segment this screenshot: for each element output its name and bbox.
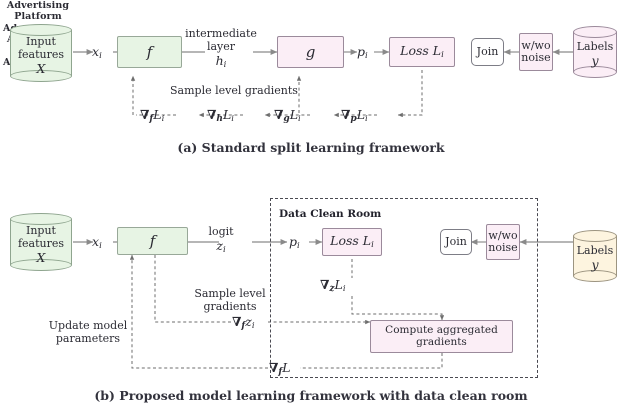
panel-b-grad-z-L-label: ∇zLi — [320, 278, 346, 295]
panel-b-data-clean-room-title: Data Clean Room — [279, 208, 381, 220]
box-loss-label: Loss Li — [400, 44, 444, 60]
db-label-line2: features — [18, 238, 64, 251]
panel-a-labels-db: Labels y — [573, 26, 617, 78]
panel-a-caption: (a) Standard split learning framework — [0, 140, 622, 155]
panel-b-box-f[interactable]: f — [117, 227, 188, 255]
panel-a-input-features-db: Input features X — [10, 24, 72, 82]
panel-b-update-model-parameters-label: Update model parameters — [38, 320, 138, 346]
db-label-line1: Input — [26, 36, 56, 49]
panel-b-box-join[interactable]: Join — [440, 229, 472, 255]
box-loss-label: Loss Li — [330, 234, 374, 250]
db-label-line1: Input — [26, 225, 56, 238]
box-join-label: Join — [445, 236, 467, 248]
panel-b-caption: (b) Proposed model learning framework wi… — [0, 388, 622, 403]
db-label-line2: y — [591, 54, 598, 69]
box-f-label: f — [150, 233, 156, 249]
panel-a-grad-f-label: ∇fLi — [140, 108, 164, 125]
panel-b-logit-label: logit zi — [197, 226, 245, 255]
panel-a-grad-g-label: ∇gLi — [274, 108, 301, 125]
panel-b-edge-label-xi: xi — [92, 235, 102, 251]
db-label-line3: X — [37, 62, 46, 77]
panel-a-box-loss[interactable]: Loss Li — [389, 37, 455, 67]
panel-b-input-features-db: Input features X — [10, 213, 72, 271]
box-f-label: f — [147, 44, 153, 60]
panel-a-sample-level-gradients-label: Sample level gradients — [170, 85, 298, 98]
panel-b-edge-label-pi: pi — [289, 235, 300, 251]
panel-a-grad-h-label: ∇hLi — [207, 108, 234, 125]
panel-b-box-loss[interactable]: Loss Li — [322, 228, 382, 256]
panel-a-box-join[interactable]: Join — [471, 38, 504, 66]
box-noise-label: w/wo noise — [488, 230, 517, 254]
panel-a-box-f[interactable]: f — [117, 36, 182, 68]
panel-a-grad-p-label: ∇pLi — [341, 108, 368, 125]
db-label-line3: X — [37, 251, 46, 266]
panel-b-grad-f-z-label: ∇fzi — [232, 315, 255, 332]
figure-root: Advertising Platform Input features X xi… — [0, 0, 622, 408]
db-label-line2: features — [18, 49, 64, 62]
panel-a-box-noise[interactable]: w/wo noise — [519, 33, 553, 71]
panel-a-edge-label-xi: xi — [92, 45, 102, 61]
panel-b-box-compute-aggregated-gradients[interactable]: Compute aggregated gradients — [370, 320, 513, 353]
box-g-label: g — [306, 44, 316, 60]
box-noise-label: w/wo noise — [521, 40, 550, 64]
panel-a-box-g[interactable]: g — [277, 36, 344, 68]
panel-b-labels-db: Labels y — [573, 230, 617, 282]
panel-a-edge-label-pi: pi — [357, 45, 368, 61]
db-label-line2: y — [591, 258, 598, 273]
box-join-label: Join — [477, 46, 499, 58]
box-aggregate-label: Compute aggregated gradients — [385, 325, 498, 348]
panel-b-sample-level-gradients-label: Sample level gradients — [180, 288, 280, 314]
panel-a-intermediate-layer-label: intermediate layer hi — [185, 28, 257, 70]
panel-b-box-noise[interactable]: w/wo noise — [486, 224, 520, 260]
panel-b-grad-f-L-label: ∇fL — [269, 361, 291, 378]
panel-a-advertising-platform-header: Advertising Platform — [0, 0, 76, 23]
